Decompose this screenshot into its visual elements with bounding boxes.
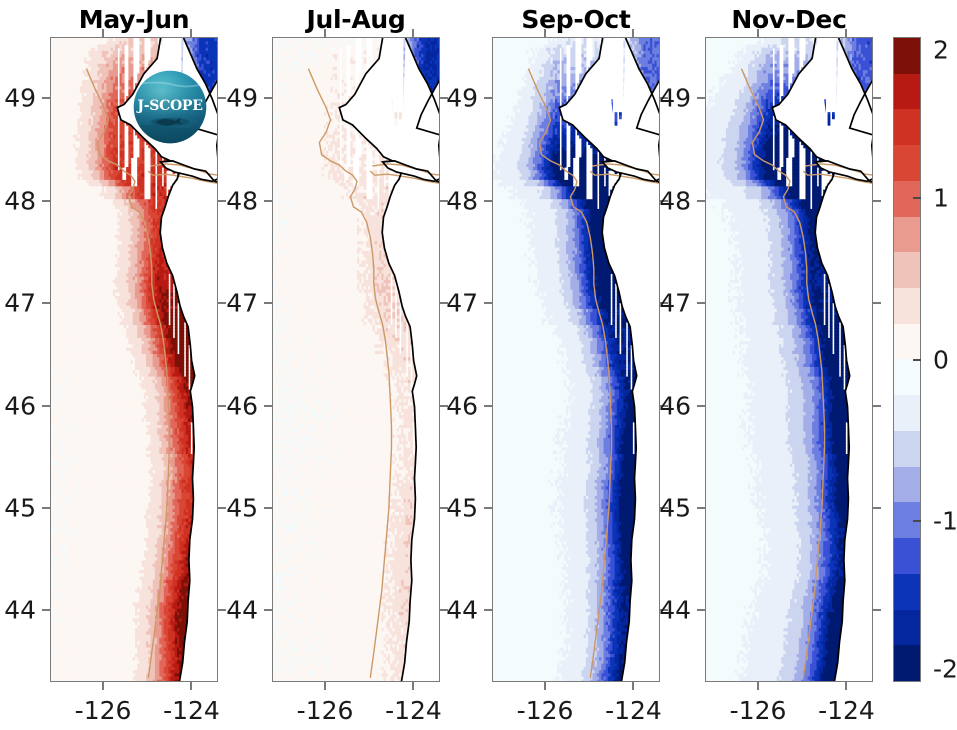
colorbar-band — [894, 109, 920, 145]
x-tick-label: -124 — [163, 696, 220, 725]
y-tick-mark — [697, 405, 705, 407]
colorbar-tick-label: -1 — [933, 506, 957, 535]
y-tick-mark-right — [873, 405, 881, 407]
x-tick-mark-top — [412, 29, 414, 37]
y-tick-label: 45 — [4, 493, 36, 522]
y-tick-mark — [484, 97, 492, 99]
colorbar-tick-label: 1 — [933, 184, 949, 213]
y-tick-mark — [697, 507, 705, 509]
x-tick-mark — [324, 682, 326, 690]
x-tick-mark-top — [845, 29, 847, 37]
jscope-logo: J-SCOPE — [133, 70, 207, 144]
y-tick-mark — [484, 507, 492, 509]
y-tick-mark — [697, 200, 705, 202]
panel-title: May-Jun — [50, 5, 218, 34]
colorbar: 210-1-2 — [893, 37, 921, 682]
y-tick-mark-right — [873, 97, 881, 99]
y-tick-mark-right — [218, 405, 226, 407]
colorbar-tick-mark — [913, 197, 921, 199]
colorbar-tick-mark — [913, 520, 921, 522]
x-tick-mark-top — [102, 29, 104, 37]
x-tick-label: -126 — [75, 696, 132, 725]
map-axes-sep-oct — [492, 37, 660, 682]
colorbar-band — [894, 395, 920, 431]
y-tick-mark — [42, 302, 50, 304]
y-tick-mark — [484, 609, 492, 611]
colorbar-band — [894, 252, 920, 288]
x-tick-mark-top — [190, 29, 192, 37]
y-tick-label: 48 — [659, 186, 691, 215]
y-tick-label: 44 — [4, 596, 36, 625]
x-tick-mark-top — [757, 29, 759, 37]
y-tick-label: 47 — [4, 289, 36, 318]
y-tick-mark — [484, 302, 492, 304]
panel-title: Nov-Dec — [705, 5, 873, 34]
y-tick-label: 46 — [446, 391, 478, 420]
colorbar-band — [894, 467, 920, 503]
y-tick-mark-right — [218, 97, 226, 99]
y-tick-label: 46 — [4, 391, 36, 420]
y-tick-mark-right — [873, 609, 881, 611]
y-tick-mark — [264, 609, 272, 611]
y-tick-label: 47 — [226, 289, 258, 318]
colorbar-band — [894, 324, 920, 360]
colorbar-tick-label: 2 — [933, 36, 949, 65]
x-tick-label: -126 — [297, 696, 354, 725]
y-tick-mark-right — [218, 609, 226, 611]
x-tick-mark-top — [324, 29, 326, 37]
x-tick-mark — [757, 682, 759, 690]
y-tick-mark-right — [218, 507, 226, 509]
x-tick-label: -126 — [517, 696, 574, 725]
y-tick-label: 45 — [226, 493, 258, 522]
map-axes-jul-aug — [272, 37, 440, 682]
x-tick-mark — [190, 682, 192, 690]
y-tick-label: 45 — [446, 493, 478, 522]
x-tick-label: -124 — [605, 696, 662, 725]
colorbar-band — [894, 431, 920, 467]
y-tick-label: 47 — [446, 289, 478, 318]
x-tick-mark — [102, 682, 104, 690]
colorbar-band — [894, 217, 920, 253]
x-tick-mark — [845, 682, 847, 690]
y-tick-mark — [697, 97, 705, 99]
y-tick-mark — [484, 200, 492, 202]
y-tick-mark-right — [218, 302, 226, 304]
y-tick-label: 49 — [659, 84, 691, 113]
panel-sep-oct: Sep-Oct 494847464544-126-124 — [492, 37, 660, 682]
map-axes-nov-dec — [705, 37, 873, 682]
y-tick-mark — [264, 97, 272, 99]
y-tick-mark — [697, 609, 705, 611]
colorbar-band — [894, 574, 920, 610]
panel-nov-dec: Nov-Dec 494847464544-126-124 — [705, 37, 873, 682]
y-tick-mark — [42, 200, 50, 202]
y-tick-label: 48 — [446, 186, 478, 215]
y-tick-mark-right — [873, 200, 881, 202]
y-tick-mark — [264, 302, 272, 304]
x-tick-mark — [544, 682, 546, 690]
y-tick-label: 46 — [659, 391, 691, 420]
colorbar-tick-mark — [913, 359, 921, 361]
colorbar-band — [894, 538, 920, 574]
x-tick-mark — [632, 682, 634, 690]
y-tick-mark — [42, 405, 50, 407]
y-tick-mark — [42, 507, 50, 509]
y-tick-label: 47 — [659, 289, 691, 318]
y-tick-label: 44 — [659, 596, 691, 625]
panel-title: Sep-Oct — [492, 5, 660, 34]
y-tick-mark — [42, 609, 50, 611]
y-tick-label: 44 — [226, 596, 258, 625]
y-tick-mark-right — [873, 302, 881, 304]
y-tick-label: 45 — [659, 493, 691, 522]
colorbar-band — [894, 288, 920, 324]
x-tick-label: -124 — [385, 696, 442, 725]
panel-jul-aug: Jul-Aug 494847464544-126-124 — [272, 37, 440, 682]
y-tick-mark — [484, 405, 492, 407]
colorbar-band — [894, 74, 920, 110]
colorbar-band — [894, 145, 920, 181]
x-tick-label: -126 — [730, 696, 787, 725]
panel-title: Jul-Aug — [272, 5, 440, 34]
y-tick-label: 48 — [226, 186, 258, 215]
colorbar-band — [894, 359, 920, 395]
y-tick-label: 49 — [4, 84, 36, 113]
figure-canvas: May-Jun 494847464544-126-124 Jul-Aug 494… — [0, 0, 957, 730]
y-tick-label: 46 — [226, 391, 258, 420]
y-tick-mark — [42, 97, 50, 99]
y-tick-mark — [697, 302, 705, 304]
y-tick-label: 48 — [4, 186, 36, 215]
y-tick-mark — [264, 200, 272, 202]
x-tick-mark — [412, 682, 414, 690]
y-tick-label: 44 — [446, 596, 478, 625]
y-tick-mark — [264, 405, 272, 407]
y-tick-label: 49 — [446, 84, 478, 113]
colorbar-tick-label: -2 — [933, 655, 957, 684]
colorbar-tick-label: 0 — [933, 345, 949, 374]
y-tick-mark-right — [218, 200, 226, 202]
x-tick-mark-top — [544, 29, 546, 37]
y-tick-mark-right — [873, 507, 881, 509]
colorbar-band — [894, 645, 920, 681]
x-tick-mark-top — [632, 29, 634, 37]
colorbar-band — [894, 38, 920, 74]
x-tick-label: -124 — [818, 696, 875, 725]
y-tick-label: 49 — [226, 84, 258, 113]
y-tick-mark — [264, 507, 272, 509]
colorbar-band — [894, 610, 920, 646]
